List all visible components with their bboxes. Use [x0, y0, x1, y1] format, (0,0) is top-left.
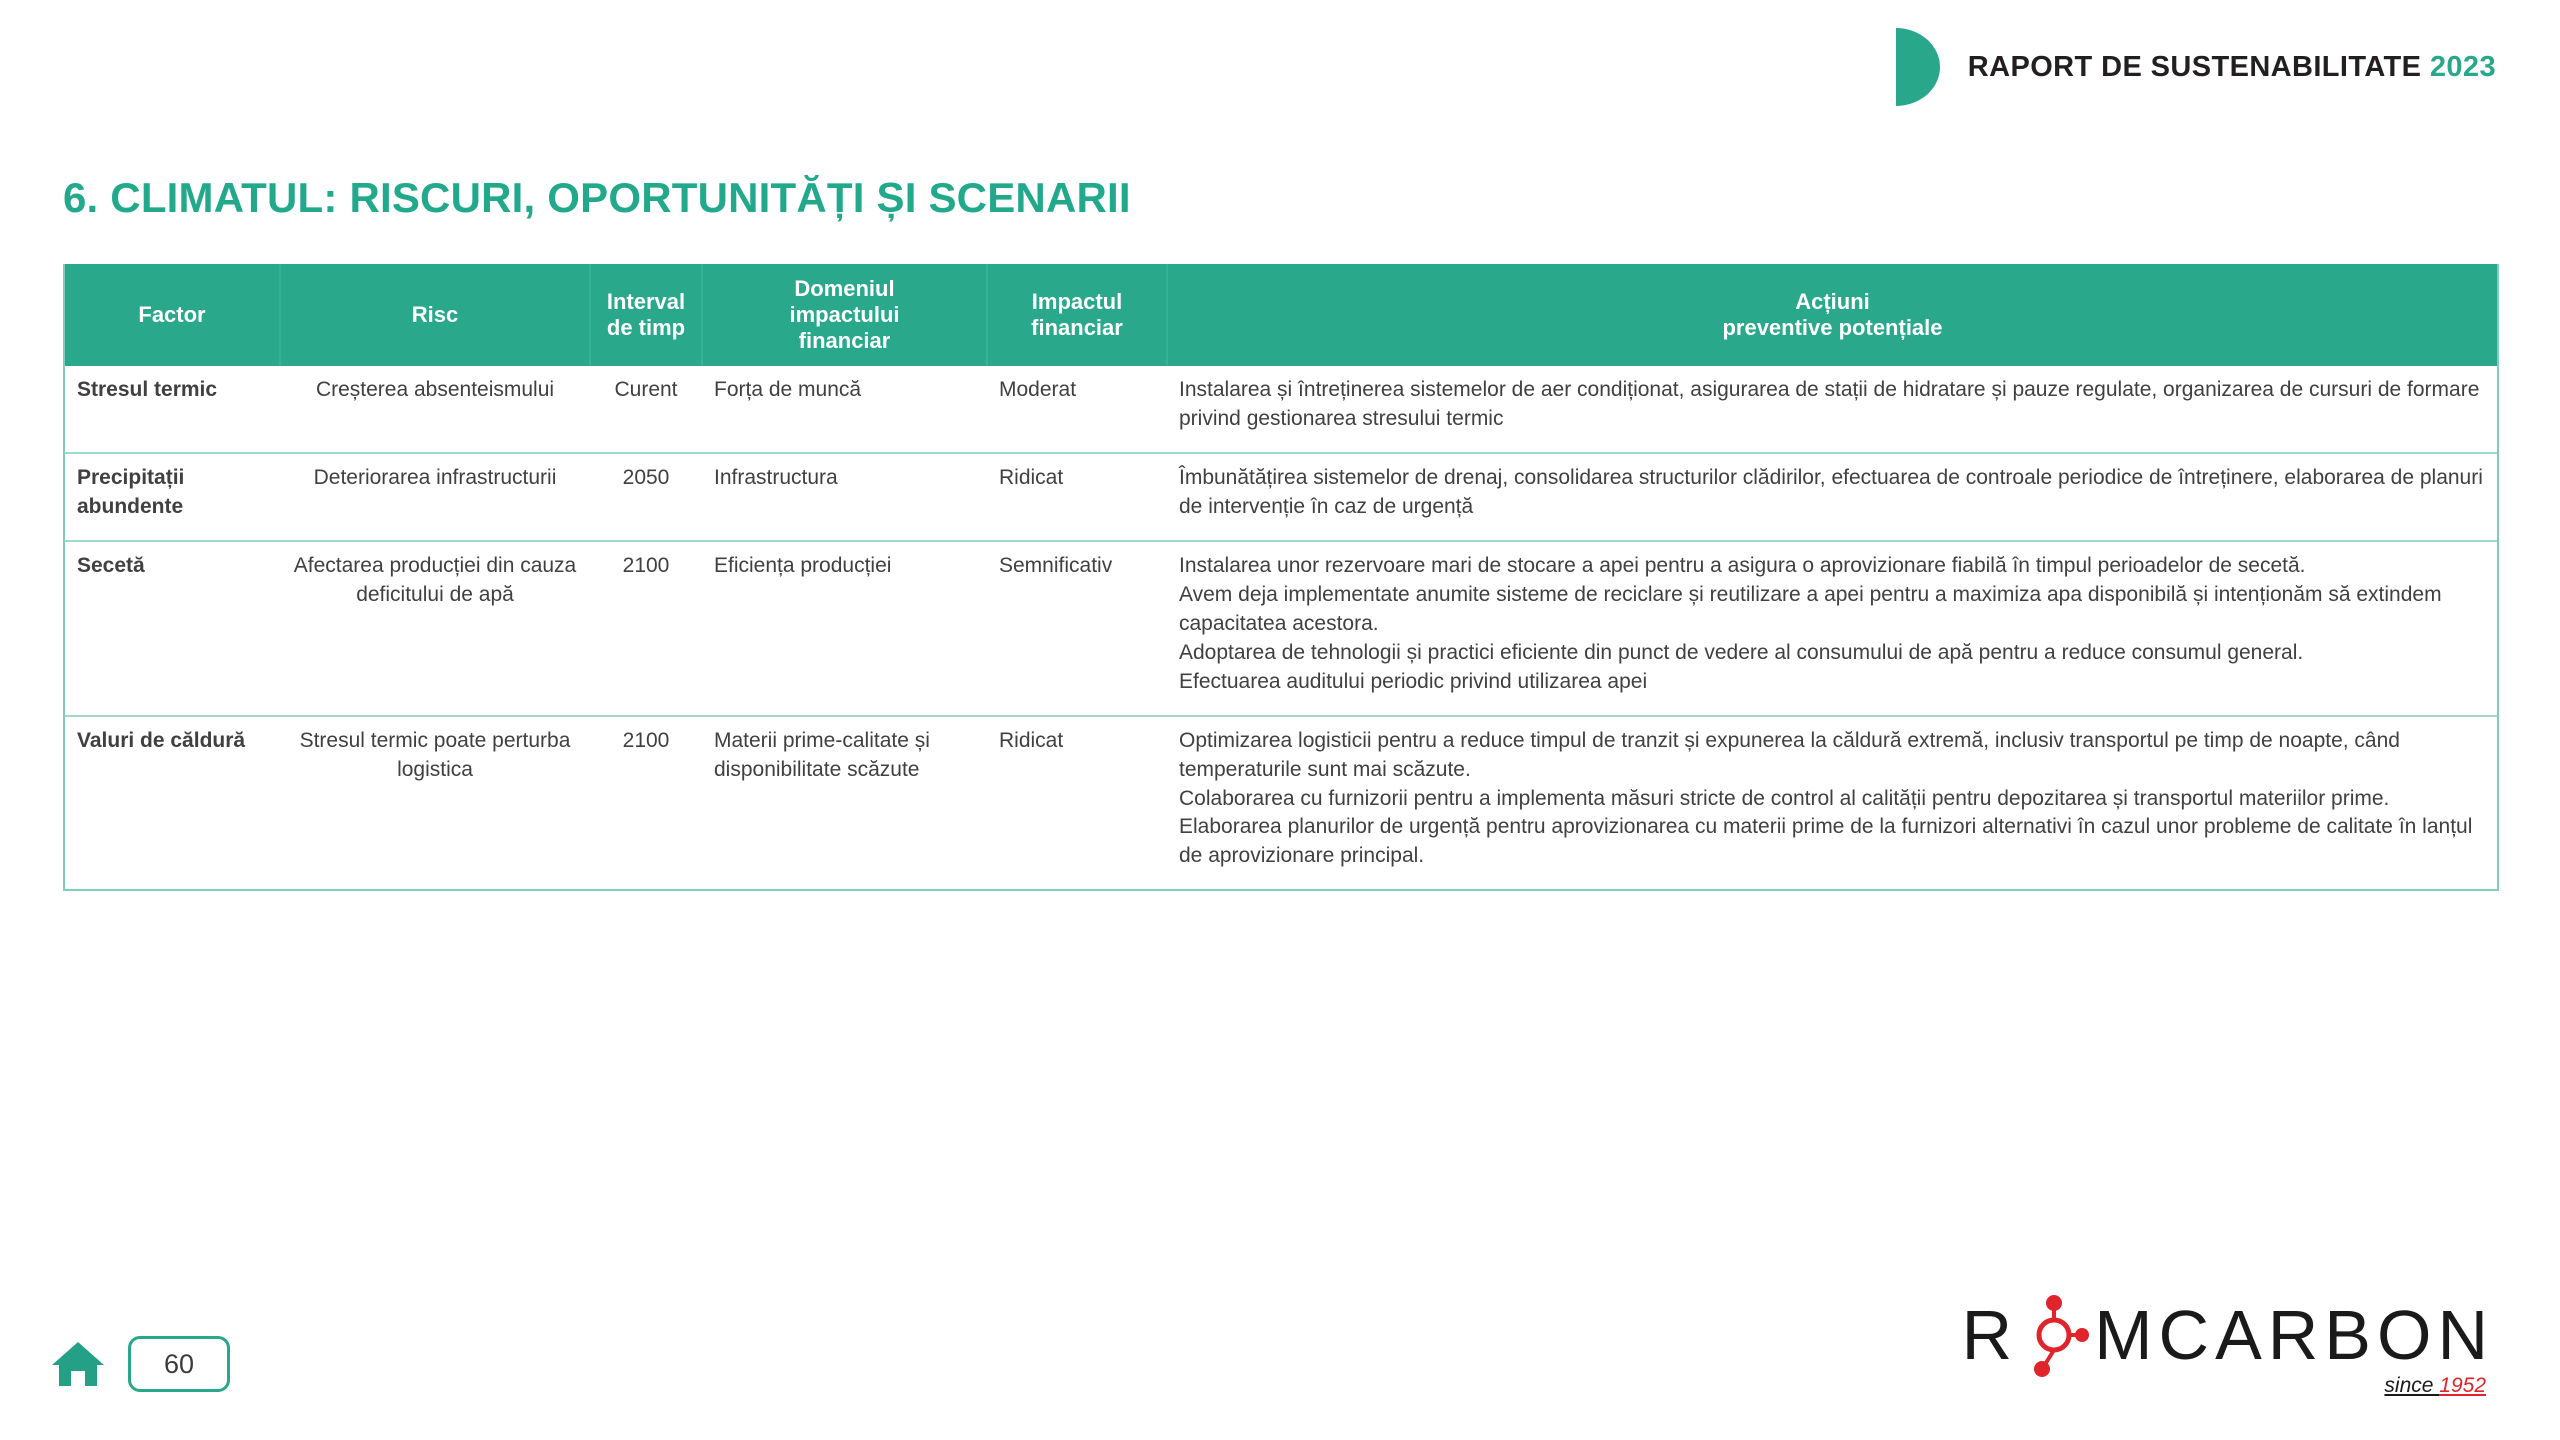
column-header-domeniu-line1: Domeniul: [794, 276, 894, 301]
romcarbon-logo: R MCARBON since 1952: [2074, 1292, 2494, 1398]
cell-impact: Moderat: [987, 366, 1167, 453]
cell-risc: Creșterea absenteismului: [280, 366, 590, 453]
table-row: Precipitații abundente Deteriorarea infr…: [65, 453, 2497, 541]
home-icon[interactable]: [50, 1339, 106, 1389]
action-paragraph: Optimizarea logisticii pentru a reduce t…: [1179, 727, 2485, 785]
cell-impact: Ridicat: [987, 453, 1167, 541]
logo-letters-mcarbon: MCARBON: [2094, 1304, 2494, 1367]
column-header-risc-line1: Risc: [412, 302, 458, 327]
column-header-domeniu-line2: impactului: [789, 302, 899, 327]
action-paragraph: Adoptarea de tehnologii și practici efic…: [1179, 639, 2485, 668]
logo-tagline: since 1952: [2074, 1374, 2486, 1398]
column-header-impact-line2: financiar: [1031, 315, 1123, 340]
cell-interval: Curent: [590, 366, 702, 453]
column-header-interval-line2: de timp: [607, 315, 685, 340]
column-header-factor: Factor: [65, 264, 280, 366]
table-row: Valuri de căldură Stresul termic poate p…: [65, 716, 2497, 891]
footer-left: 60: [50, 1336, 230, 1392]
cell-interval: 2100: [590, 716, 702, 891]
table-body: Stresul termic Creșterea absenteismului …: [65, 366, 2497, 891]
cell-actiuni: Optimizarea logisticii pentru a reduce t…: [1167, 716, 2497, 891]
action-paragraph: Instalarea unor rezervoare mari de stoca…: [1179, 552, 2485, 581]
cell-interval: 2050: [590, 453, 702, 541]
column-header-impact: Impactul financiar: [987, 264, 1167, 366]
column-header-actiuni: Acțiuni preventive potențiale: [1167, 264, 2497, 366]
page-header: RAPORT DE SUSTENABILITATE 2023: [1896, 28, 2496, 106]
page-number-badge[interactable]: 60: [128, 1336, 230, 1392]
page-title: 6. CLIMATUL: RISCURI, OPORTUNITĂȚI ȘI SC…: [63, 174, 1131, 222]
logo-tagline-since: since: [2384, 1374, 2439, 1397]
cell-domeniu: Forța de muncă: [702, 366, 987, 453]
cell-actiuni: Îmbunătățirea sistemelor de drenaj, cons…: [1167, 453, 2497, 541]
brand-half-circle-icon: [1896, 28, 1940, 106]
action-paragraph: Elaborarea planurilor de urgență pentru …: [1179, 813, 2485, 871]
column-header-actiuni-line1: Acțiuni: [1795, 289, 1870, 314]
cell-factor: Stresul termic: [65, 366, 280, 453]
column-header-interval-line1: Interval: [607, 289, 685, 314]
table-row: Secetă Afectarea producției din cauza de…: [65, 541, 2497, 716]
climate-risk-table: Factor Risc Interval de timp Domeniul im…: [65, 264, 2497, 891]
cell-domeniu: Eficiența producției: [702, 541, 987, 716]
logo-letter-r: R: [1962, 1304, 2015, 1367]
column-header-interval: Interval de timp: [590, 264, 702, 366]
cell-domeniu: Materii prime-calitate și disponibilitat…: [702, 716, 987, 891]
column-header-actiuni-line2: preventive potențiale: [1722, 315, 1942, 340]
table-header: Factor Risc Interval de timp Domeniul im…: [65, 264, 2497, 366]
column-header-domeniu-line3: financiar: [799, 328, 891, 353]
report-header-title-text: RAPORT DE SUSTENABILITATE: [1968, 51, 2422, 83]
cell-factor: Secetă: [65, 541, 280, 716]
cell-risc: Afectarea producției din cauza deficitul…: [280, 541, 590, 716]
report-header-year: 2023: [2430, 51, 2496, 83]
cell-risc: Deteriorarea infrastructurii: [280, 453, 590, 541]
column-header-risc: Risc: [280, 264, 590, 366]
cell-interval: 2100: [590, 541, 702, 716]
action-paragraph: Avem deja implementate anumite sisteme d…: [1179, 581, 2485, 639]
romcarbon-logo-wordmark: R MCARBON: [2074, 1292, 2494, 1378]
action-paragraph: Colaborarea cu furnizorii pentru a imple…: [1179, 785, 2485, 814]
logo-tagline-year: 1952: [2439, 1374, 2486, 1397]
report-header-title: RAPORT DE SUSTENABILITATE 2023: [1968, 51, 2496, 84]
cell-impact: Semnificativ: [987, 541, 1167, 716]
table-row: Stresul termic Creșterea absenteismului …: [65, 366, 2497, 453]
cell-risc: Stresul termic poate perturba logistica: [280, 716, 590, 891]
cell-factor: Precipitații abundente: [65, 453, 280, 541]
logo-molecule-icon: [2018, 1292, 2090, 1378]
cell-actiuni: Instalarea unor rezervoare mari de stoca…: [1167, 541, 2497, 716]
column-header-impact-line1: Impactul: [1032, 289, 1122, 314]
cell-impact: Ridicat: [987, 716, 1167, 891]
cell-actiuni: Instalarea și întreținerea sistemelor de…: [1167, 366, 2497, 453]
action-paragraph: Efectuarea auditului periodic privind ut…: [1179, 668, 2485, 697]
climate-risk-table-container: Factor Risc Interval de timp Domeniul im…: [63, 264, 2499, 891]
cell-factor: Valuri de căldură: [65, 716, 280, 891]
column-header-factor-line1: Factor: [138, 302, 205, 327]
cell-domeniu: Infrastructura: [702, 453, 987, 541]
column-header-domeniu: Domeniul impactului financiar: [702, 264, 987, 366]
action-paragraph: Instalarea și întreținerea sistemelor de…: [1179, 376, 2485, 434]
action-paragraph: Îmbunătățirea sistemelor de drenaj, cons…: [1179, 464, 2485, 522]
table-header-row: Factor Risc Interval de timp Domeniul im…: [65, 264, 2497, 366]
